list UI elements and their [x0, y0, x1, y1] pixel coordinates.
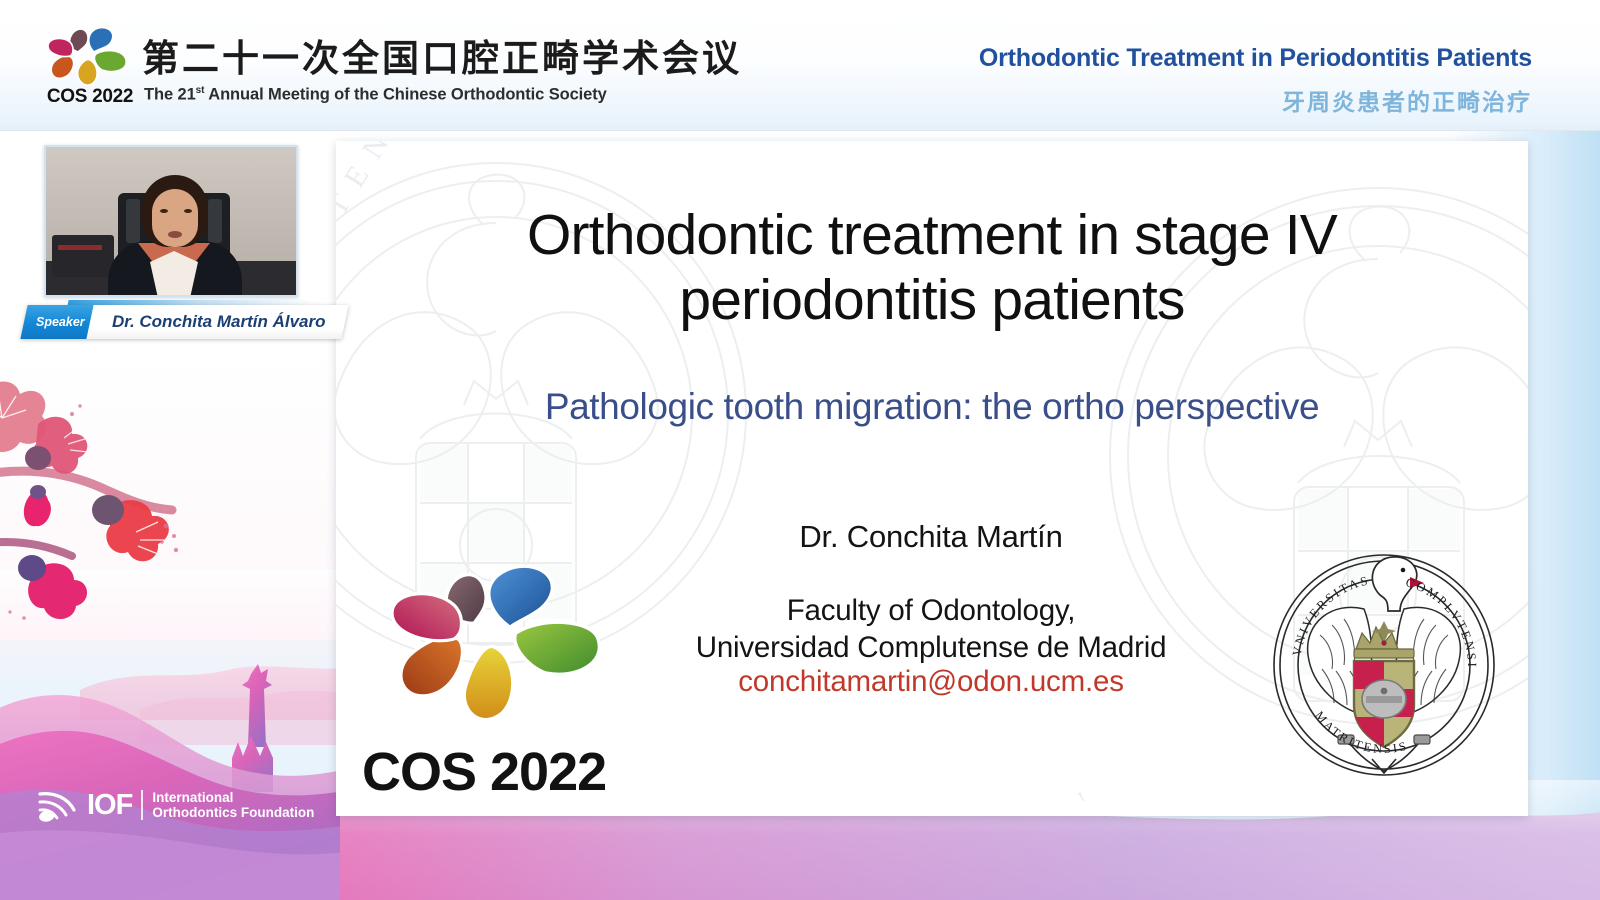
iof-abbr: IOF: [87, 791, 132, 820]
cos-flower-logo-icon: [44, 24, 136, 86]
video-person-eye-left: [160, 209, 168, 213]
conference-header: COS 2022 第二十一次全国口腔正畸学术会议 The 21st Annual…: [0, 0, 1600, 131]
speaker-video-thumbnail[interactable]: [44, 145, 298, 297]
speaker-name-plate: Dr. Conchita Martín Álvaro: [86, 305, 349, 339]
slide-author: Dr. Conchita Martín: [516, 519, 1346, 555]
conference-title-en-prefix: The 21: [144, 86, 196, 104]
iof-divider: [141, 790, 143, 820]
video-person-face: [152, 189, 198, 247]
svg-text:V N I V E R S I T A S: V N I V E R S I T A S: [1520, 194, 1528, 562]
conference-title-cn: 第二十一次全国口腔正畸学术会议: [142, 40, 742, 77]
slide-affiliation: Faculty of Odontology, Universidad Compl…: [516, 593, 1346, 667]
video-printer: [52, 235, 114, 277]
ucm-coat-of-arms-icon: VNIVERSITAS COMPLVTENSIS MATRITENSIS: [1260, 539, 1508, 789]
video-person-eye-right: [184, 209, 192, 213]
cos-flower-logo-slide-icon: [384, 547, 628, 737]
cos-logo-text: COS 2022: [40, 86, 140, 108]
page-background: COS 2022 第二十一次全国口腔正畸学术会议 The 21st Annual…: [0, 0, 1600, 900]
presentation-slide[interactable]: C O M P L V T E N S I S: [336, 141, 1528, 816]
slide-affiliation-line1: Faculty of Odontology,: [516, 593, 1346, 630]
slide-affiliation-line2: Universidad Complutense de Madrid: [516, 630, 1346, 667]
slide-email: conchitamartin@odon.ucm.es: [516, 665, 1346, 699]
conference-title-en: The 21st Annual Meeting of the Chinese O…: [144, 85, 607, 105]
cos-header-logo: COS 2022: [40, 24, 140, 114]
session-topic-cn: 牙周炎患者的正畸治疗: [1282, 83, 1532, 117]
slide-subtitle: Pathologic tooth migration: the ortho pe…: [396, 386, 1468, 428]
speaker-name: Dr. Conchita Martín Álvaro: [112, 312, 325, 332]
speaker-tag-label: Speaker: [36, 315, 85, 329]
iof-name-line2: Orthodontics Foundation: [152, 805, 314, 820]
iof-name-line1: International: [152, 790, 314, 805]
video-person-mouth: [168, 231, 182, 238]
slide-cos-footer-text: COS 2022: [362, 741, 606, 803]
session-topic-en: Orthodontic Treatment in Periodontitis P…: [979, 44, 1532, 73]
iof-wave-icon: [38, 788, 78, 822]
slide-title: Orthodontic treatment in stage IV period…: [396, 203, 1468, 333]
speaker-badge: Speaker Dr. Conchita Martín Álvaro: [24, 305, 345, 339]
iof-logo: IOF International Orthodontics Foundatio…: [38, 783, 318, 827]
conference-title-en-suffix: Annual Meeting of the Chinese Orthodonti…: [204, 86, 606, 104]
